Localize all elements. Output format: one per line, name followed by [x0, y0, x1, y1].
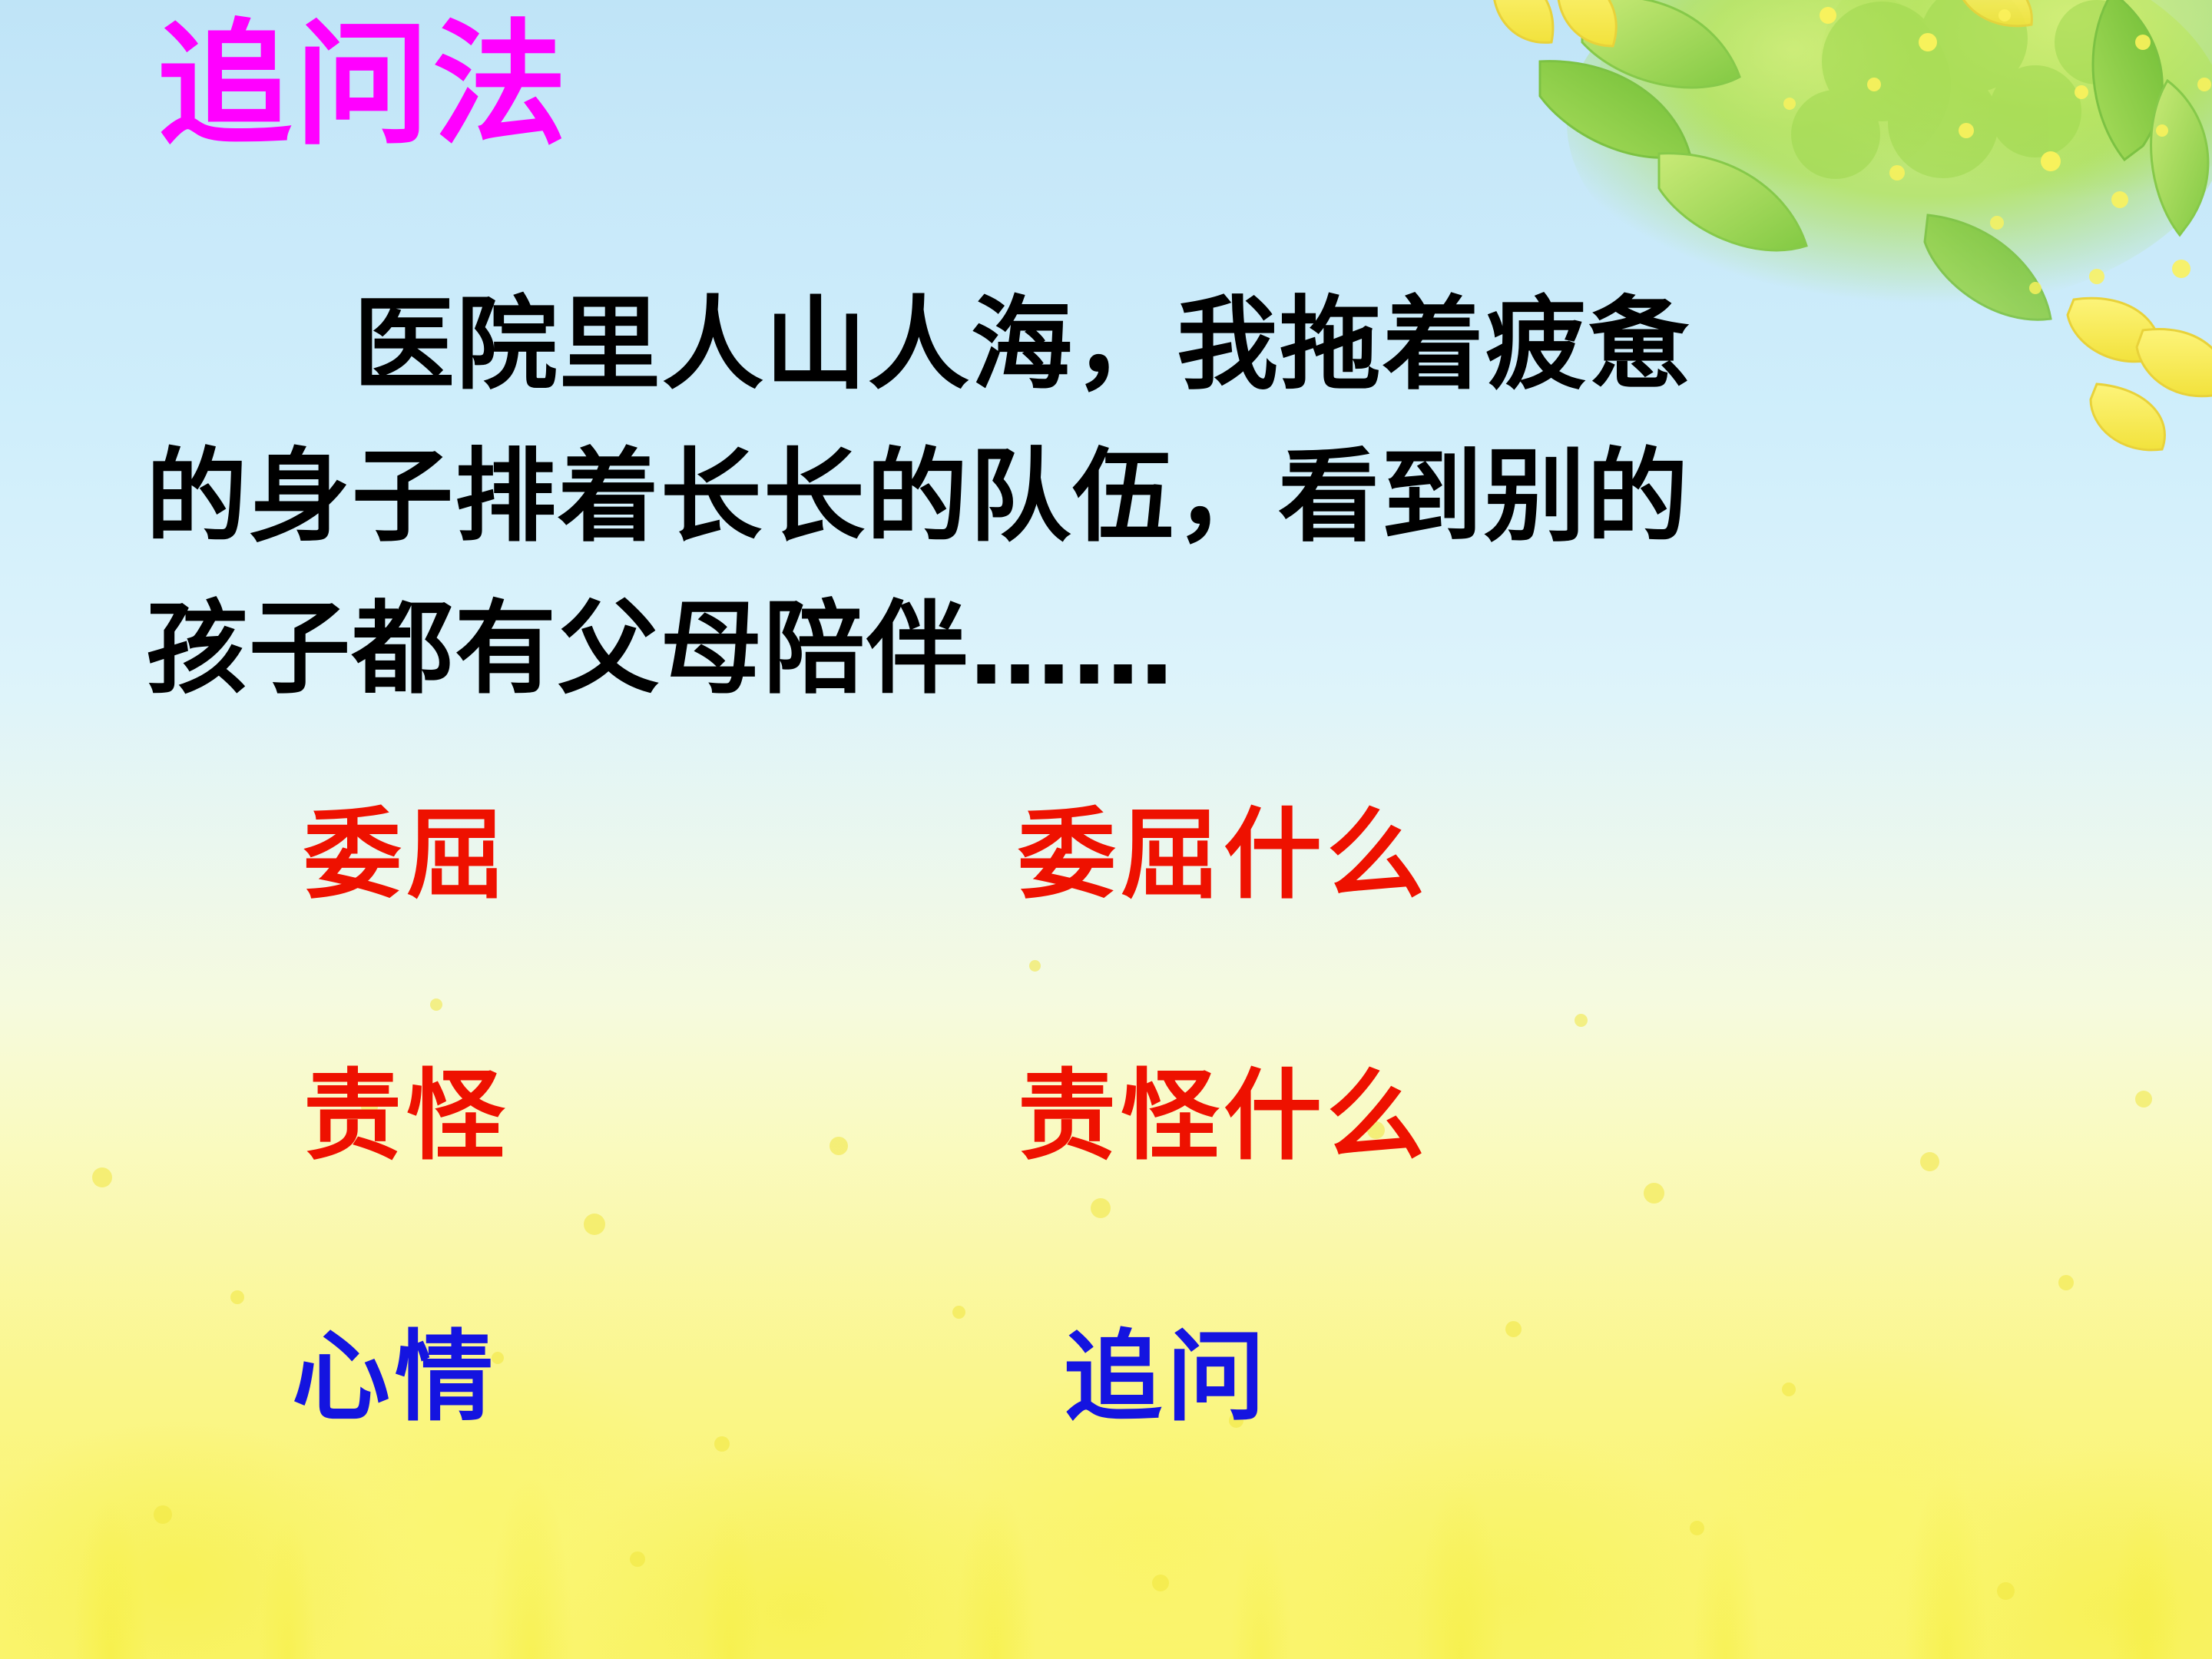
keyword-pair-row: 责怪 责怪什么: [0, 1068, 2212, 1329]
paragraph-line-1: 医院里人山人海，我拖着疲惫: [146, 269, 2081, 421]
keyword-pair-row: 心情 追问: [0, 1329, 2212, 1590]
keyword-right-2: 责怪什么: [1018, 1068, 1429, 1166]
keyword-right-1: 委屈什么: [1018, 806, 1429, 905]
keyword-left-1: 委屈: [303, 806, 509, 905]
page-title: 追问法: [157, 15, 570, 157]
keyword-pair-list: 委屈 委屈什么 责怪 责怪什么 心情 追问: [0, 806, 2212, 1590]
keyword-right-3: 追问: [1064, 1329, 1270, 1427]
keyword-left-3: 心情: [292, 1329, 498, 1427]
body-paragraph: 医院里人山人海，我拖着疲惫 的身子排着长长的队伍，看到别的 孩子都有父母陪伴……: [146, 269, 2081, 725]
keyword-pair-row: 委屈 委屈什么: [0, 806, 2212, 1068]
paragraph-line-3: 孩子都有父母陪伴……: [146, 573, 2081, 725]
paragraph-line-1-text: 医院里人山人海，我拖着疲惫: [353, 286, 1691, 404]
slide-canvas: 追问法 医院里人山人海，我拖着疲惫 的身子排着长长的队伍，看到别的 孩子都有父母…: [0, 0, 2212, 1659]
paragraph-line-2: 的身子排着长长的队伍，看到别的: [146, 421, 2081, 573]
keyword-left-2: 责怪: [303, 1068, 509, 1166]
